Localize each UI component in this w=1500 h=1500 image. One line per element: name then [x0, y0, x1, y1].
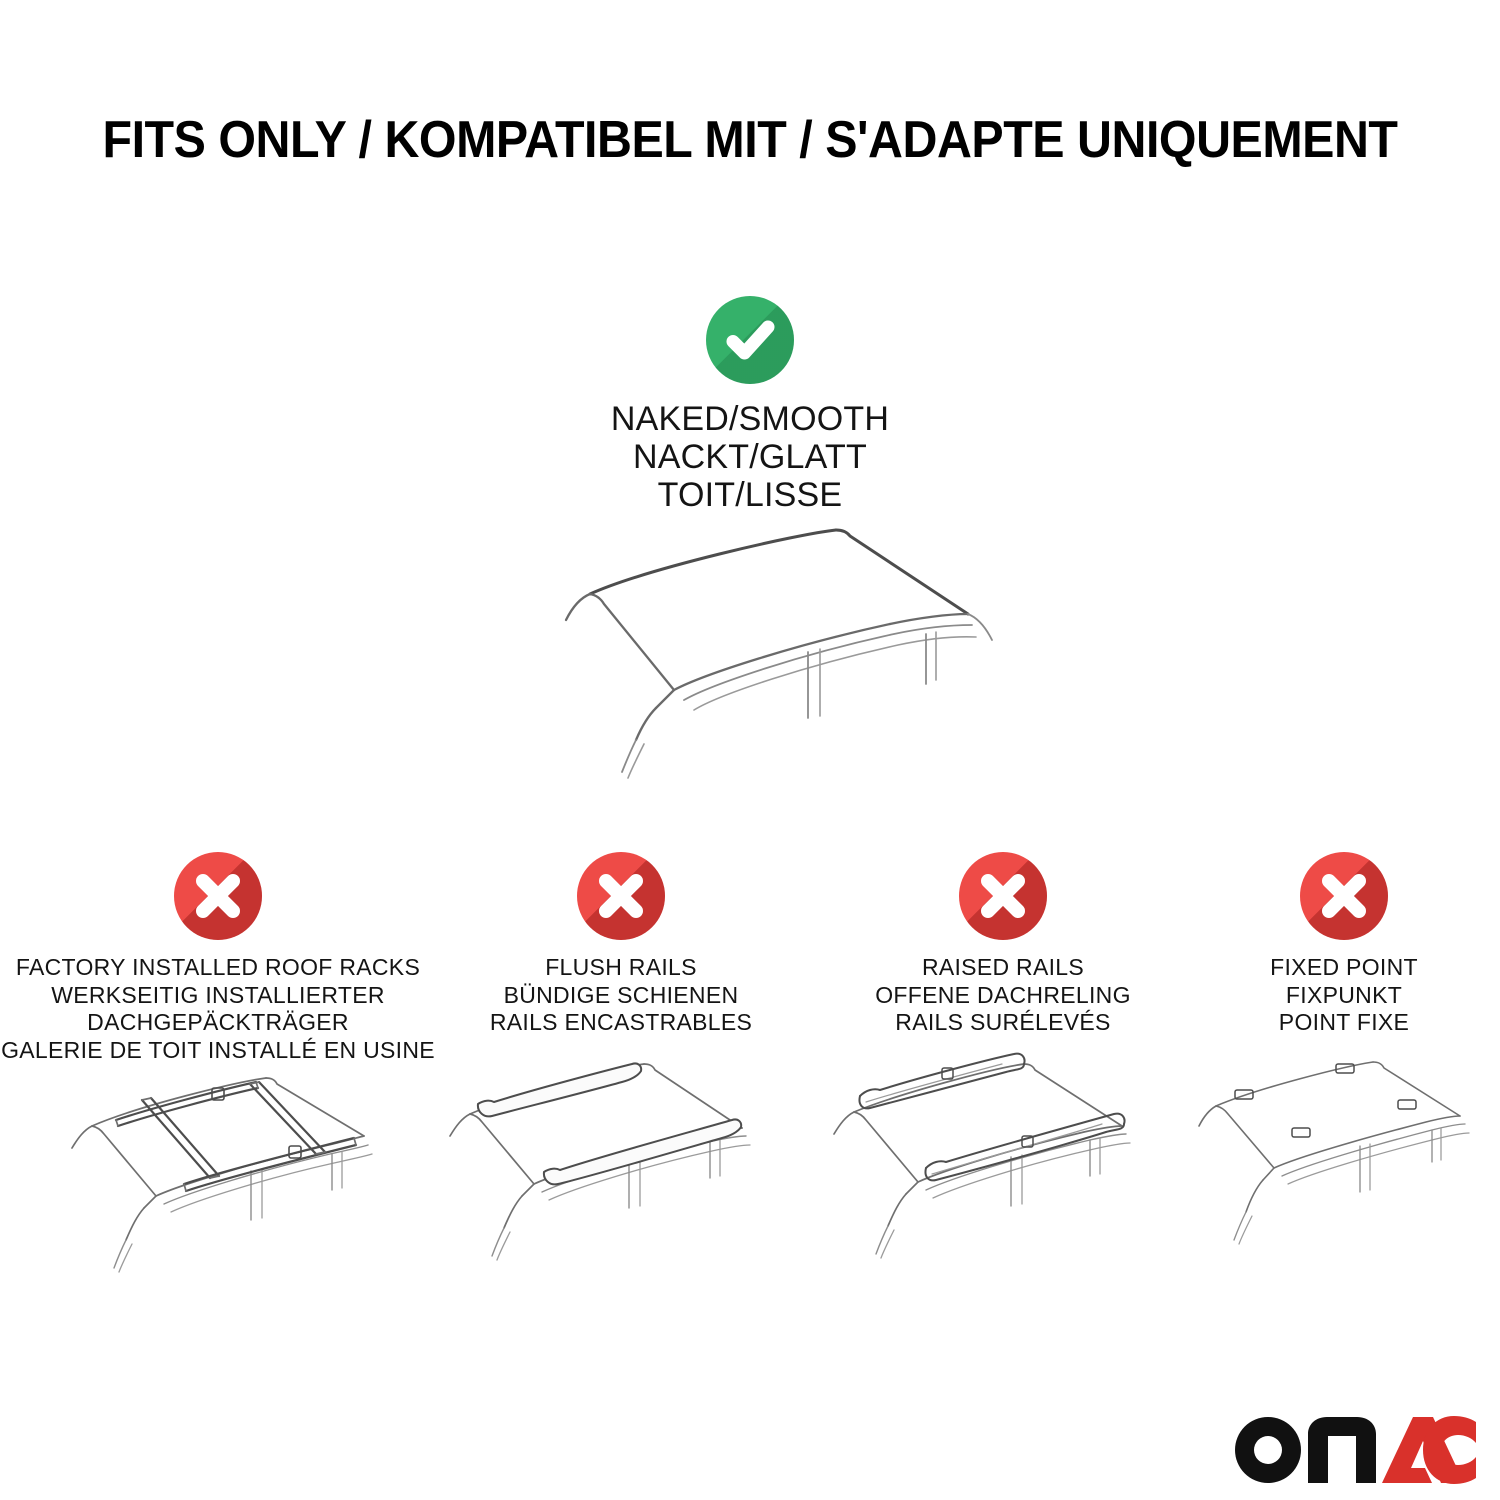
label-line-3: RAILS SURÉLEVÉS [875, 1009, 1131, 1037]
cross-icon [577, 852, 665, 940]
label-line-1: FIXED POINT [1270, 954, 1418, 982]
label-line-2: WERKSEITIG INSTALLIERTER [1, 982, 435, 1010]
incompatible-label: FACTORY INSTALLED ROOF RACKS WERKSEITIG … [1, 954, 435, 1064]
cross-icon [959, 852, 1047, 940]
incompatible-item-raised-rails: RAISED RAILS OFFENE DACHRELING RAILS SUR… [812, 852, 1194, 1037]
check-icon [706, 296, 794, 384]
label-line-1: FACTORY INSTALLED ROOF RACKS [1, 954, 435, 982]
incompatible-label: FLUSH RAILS BÜNDIGE SCHIENEN RAILS ENCAS… [490, 954, 752, 1037]
cross-icon [174, 852, 262, 940]
cross-badge [577, 852, 665, 940]
label-line-1: FLUSH RAILS [490, 954, 752, 982]
label-line-1: RAISED RAILS [875, 954, 1131, 982]
compatible-label-line-2: NACKT/GLATT [611, 438, 889, 476]
car-roof-fixed-point-illustration [1188, 1050, 1498, 1280]
compatible-labels: NAKED/SMOOTH NACKT/GLATT TOIT/LISSE [611, 400, 889, 514]
car-roof-flush-rails-illustration [432, 1050, 832, 1280]
car-roof-naked-smooth-illustration [498, 518, 1028, 808]
label-line-3: RAILS ENCASTRABLES [490, 1009, 752, 1037]
cross-badge [959, 852, 1047, 940]
logo-letter-o [1235, 1417, 1301, 1483]
car-roof-raised-rails-illustration [826, 1050, 1226, 1280]
incompatible-item-fixed-point: FIXED POINT FIXPUNKT POINT FIXE [1194, 852, 1494, 1037]
compatibility-infographic: FITS ONLY / KOMPATIBEL MIT / S'ADAPTE UN… [0, 0, 1500, 1500]
incompatible-label: FIXED POINT FIXPUNKT POINT FIXE [1270, 954, 1418, 1037]
incompatible-item-flush-rails: FLUSH RAILS BÜNDIGE SCHIENEN RAILS ENCAS… [430, 852, 812, 1037]
compatible-label-line-1: NAKED/SMOOTH [611, 400, 889, 438]
logo-letter-m [1308, 1417, 1376, 1483]
compatible-label-line-3: TOIT/LISSE [611, 476, 889, 514]
cross-badge [174, 852, 262, 940]
cross-icon [1300, 852, 1388, 940]
page-title: FITS ONLY / KOMPATIBEL MIT / S'ADAPTE UN… [53, 110, 1448, 170]
label-line-2: BÜNDIGE SCHIENEN [490, 982, 752, 1010]
compatible-section: NAKED/SMOOTH NACKT/GLATT TOIT/LISSE [0, 296, 1500, 514]
omac-logo: OMAC [1232, 1408, 1476, 1486]
label-line-3: POINT FIXE [1270, 1009, 1418, 1037]
label-line-2: FIXPUNKT [1270, 982, 1418, 1010]
incompatible-label: RAISED RAILS OFFENE DACHRELING RAILS SUR… [875, 954, 1131, 1037]
cross-badge [1300, 852, 1388, 940]
incompatible-item-factory-racks: FACTORY INSTALLED ROOF RACKS WERKSEITIG … [8, 852, 428, 1064]
label-line-2: OFFENE DACHRELING [875, 982, 1131, 1010]
label-line-3: DACHGEPÄCKTRÄGER [1, 1009, 435, 1037]
car-roof-factory-racks-illustration [34, 1050, 434, 1280]
check-badge [706, 296, 794, 384]
